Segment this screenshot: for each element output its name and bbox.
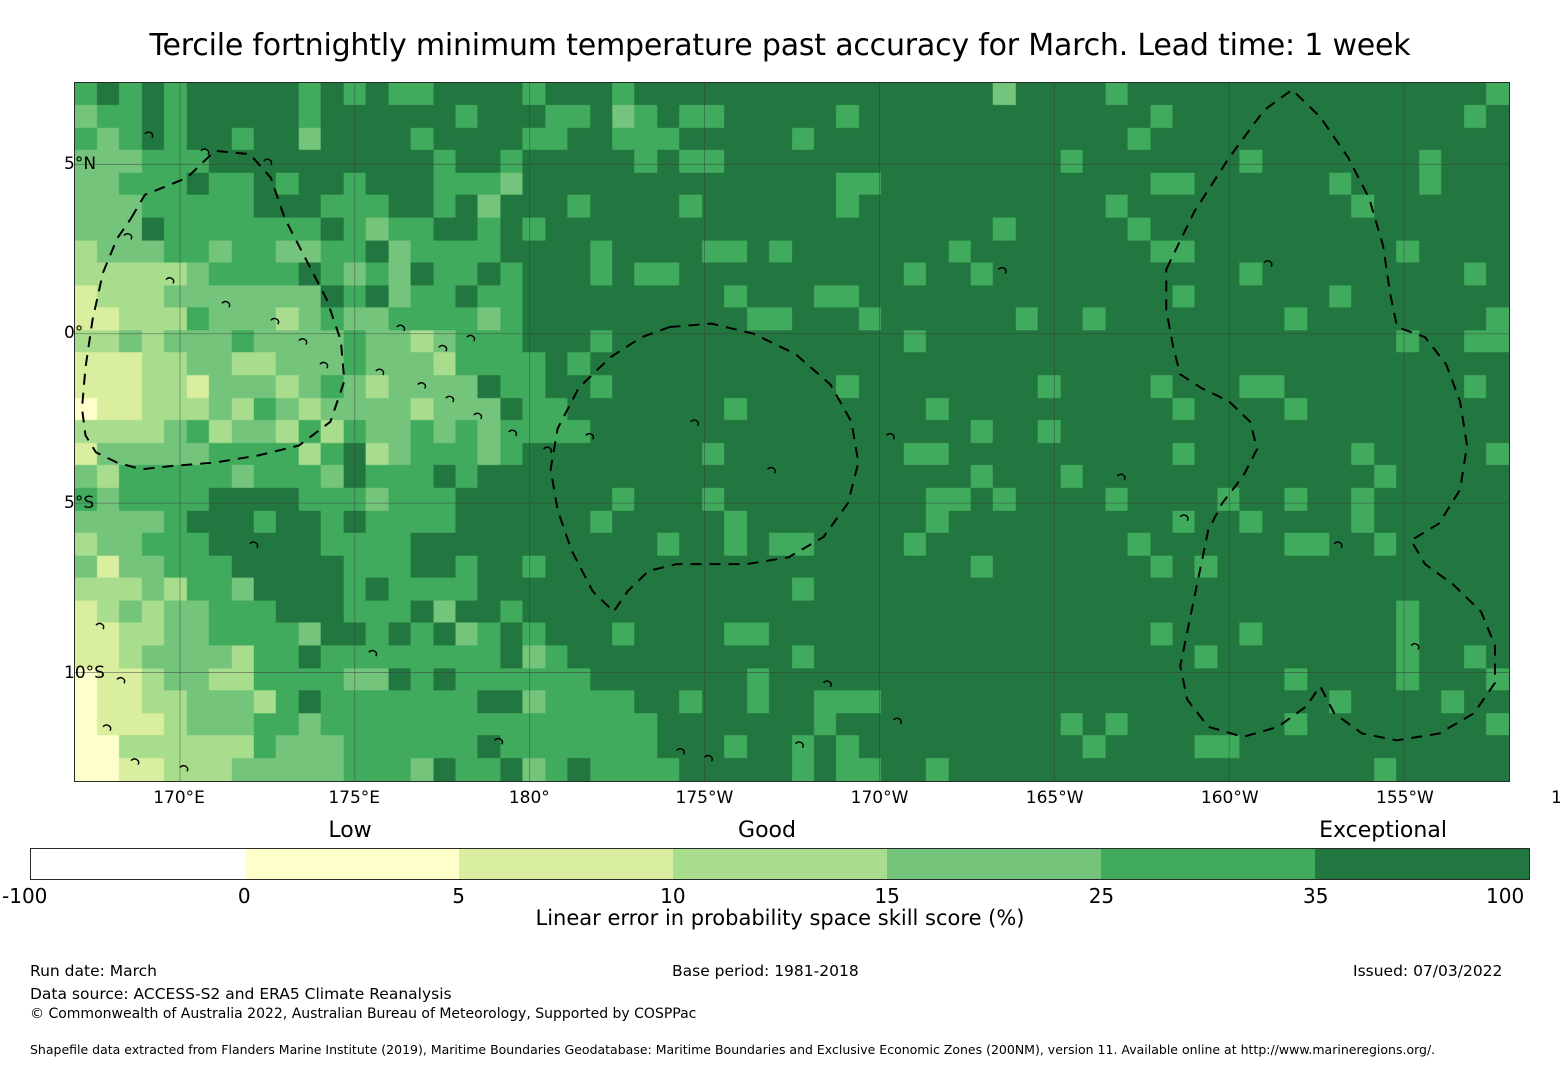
colorbar-segment-2 <box>459 849 673 879</box>
colorbar[interactable] <box>30 848 1530 880</box>
colorbar-segment-3 <box>673 849 887 879</box>
x-tick-175°E: 175°E <box>328 788 380 808</box>
y-tick-10°S: 10°S <box>64 663 105 683</box>
copyright: © Commonwealth of Australia 2022, Austra… <box>30 1006 696 1022</box>
page-title: Tercile fortnightly minimum temperature … <box>0 28 1560 63</box>
colorbar-segments <box>30 848 1530 880</box>
colorbar-axis-label: Linear error in probability space skill … <box>0 906 1560 930</box>
x-tick-170°W: 170°W <box>851 788 909 808</box>
y-tick-5°S: 5°S <box>64 493 94 513</box>
x-tick-175°W: 175°W <box>676 788 734 808</box>
colorbar-category-good: Good <box>738 818 796 843</box>
shapefile-attribution: Shapefile data extracted from Flanders M… <box>30 1042 1435 1057</box>
colorbar-category-exceptional: Exceptional <box>1319 818 1447 843</box>
x-tick-160°W: 160°W <box>1201 788 1259 808</box>
x-tick-165°W: 165°W <box>1026 788 1084 808</box>
colorbar-tick-5: 5 <box>452 884 465 908</box>
y-tick-0°: 0° <box>64 323 83 343</box>
colorbar-segment-4 <box>887 849 1101 879</box>
colorbar-segment-0 <box>31 849 245 879</box>
colorbar-tick-100: 100 <box>1486 884 1524 908</box>
x-tick-170°E: 170°E <box>153 788 205 808</box>
colorbar-tick--100: -100 <box>2 884 47 908</box>
base-period: Base period: 1981-2018 <box>672 962 859 980</box>
map-plot-area <box>74 82 1510 782</box>
x-tick-155°W: 155°W <box>1376 788 1434 808</box>
y-tick-5°N: 5°N <box>64 154 96 174</box>
colorbar-tick-0: 0 <box>238 884 251 908</box>
colorbar-tick-10: 10 <box>660 884 685 908</box>
run-date: Run date: March <box>30 962 157 980</box>
x-tick-180°: 180° <box>509 788 550 808</box>
colorbar-segment-1 <box>245 849 459 879</box>
colorbar-category-low: Low <box>328 818 371 843</box>
colorbar-tick-35: 35 <box>1303 884 1328 908</box>
colorbar-segment-5 <box>1101 849 1315 879</box>
data-source: Data source: ACCESS-S2 and ERA5 Climate … <box>30 985 452 1003</box>
colorbar-tick-25: 25 <box>1089 884 1114 908</box>
x-tick-150°W: 150°W <box>1551 788 1560 808</box>
skill-score-heatmap <box>75 83 1509 781</box>
colorbar-segment-6 <box>1315 849 1529 879</box>
colorbar-tick-15: 15 <box>874 884 899 908</box>
issued-date: Issued: 07/03/2022 <box>1353 962 1502 980</box>
